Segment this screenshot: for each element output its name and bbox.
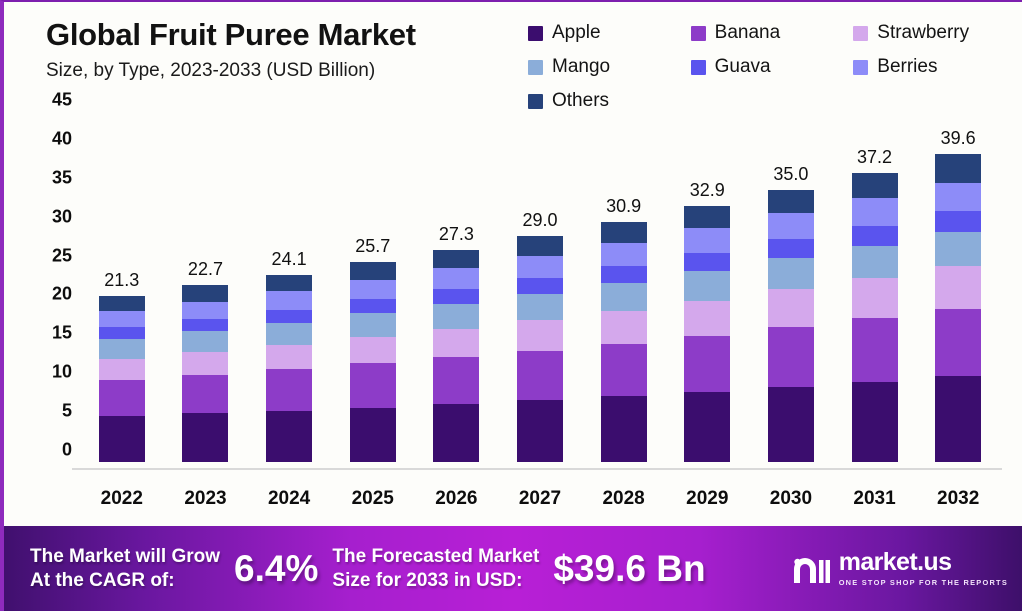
bar-segment-apple[interactable] [852,382,898,462]
bar-total-label: 22.7 [188,259,223,280]
bar-segment-mango[interactable] [684,271,730,301]
legend-item-apple[interactable]: Apple [528,16,691,50]
bar-segment-guava[interactable] [601,266,647,283]
bar-segment-apple[interactable] [684,392,730,462]
bar-segment-others[interactable] [266,275,312,291]
x-axis: 2022202320242025202620272028202920302031… [28,480,1010,514]
bar-segment-banana[interactable] [350,363,396,407]
plot-area: 051015202530354045 21.322.724.125.727.32… [28,110,1010,470]
bar-stack-2028[interactable] [601,222,647,462]
bar-total-label: 21.3 [104,270,139,291]
bar-segment-others[interactable] [935,154,981,183]
chart-subtitle: Size, by Type, 2023-2033 (USD Billion) [46,60,516,82]
bar-segment-mango[interactable] [266,323,312,345]
bar-segment-berries[interactable] [852,198,898,225]
legend-swatch-icon [528,60,543,75]
page-title: Global Fruit Puree Market [46,18,516,51]
bar-segment-berries[interactable] [182,302,228,319]
x-axis-tick: 2025 [352,488,394,510]
bar-segment-berries[interactable] [517,256,563,278]
bar-segment-apple[interactable] [768,387,814,462]
legend-label: Strawberry [877,22,969,44]
bar-segment-others[interactable] [350,262,396,280]
bar-stack-2030[interactable] [768,190,814,462]
bar-segment-berries[interactable] [601,243,647,266]
bar-segment-banana[interactable] [266,369,312,410]
bar-segment-apple[interactable] [433,404,479,462]
x-axis-tick: 2028 [602,488,644,510]
summary-banner: The Market will Grow At the CAGR of: 6.4… [4,526,1022,611]
y-axis-tick: 15 [52,323,72,344]
bar-segment-mango[interactable] [517,294,563,320]
logo-text: market.us ONE STOP SHOP FOR THE REPORTS [839,550,1008,587]
bar-segment-berries[interactable] [433,268,479,289]
x-axis-tick: 2022 [101,488,143,510]
cagr-label-line1: The Market will Grow [30,545,220,568]
legend-item-berries[interactable]: Berries [853,50,1016,84]
legend-label: Mango [552,56,610,78]
y-axis-tick: 30 [52,206,72,227]
bars-container: 21.322.724.125.727.329.030.932.935.037.2… [80,110,1010,470]
bar-segment-banana[interactable] [99,380,145,416]
bar-segment-others[interactable] [601,222,647,243]
bar-segment-others[interactable] [684,206,730,228]
x-axis-tick: 2029 [686,488,728,510]
bar-total-label: 35.0 [773,164,808,185]
bar-segment-others[interactable] [182,285,228,301]
bar-segment-berries[interactable] [99,311,145,327]
legend-item-strawberry[interactable]: Strawberry [853,16,1016,50]
bar-segment-strawberry[interactable] [768,289,814,326]
chart-legend: AppleBananaStrawberryMangoGuavaBerriesOt… [528,16,1016,118]
bar-segment-banana[interactable] [433,357,479,404]
bar-stack-2029[interactable] [684,206,730,462]
bar-segment-berries[interactable] [684,228,730,253]
legend-label: Apple [552,22,601,44]
forecast-value: $39.6 Bn [553,548,705,590]
legend-label: Guava [715,56,771,78]
y-axis-tick: 40 [52,128,72,149]
legend-label: Banana [715,22,781,44]
bar-total-label: 24.1 [272,249,307,270]
chart-header: Global Fruit Puree Market Size, by Type,… [46,18,516,82]
bar-segment-guava[interactable] [266,310,312,323]
bar-segment-guava[interactable] [433,289,479,304]
bar-segment-strawberry[interactable] [517,320,563,350]
bar-total-label: 30.9 [606,196,641,217]
bar-segment-guava[interactable] [517,278,563,294]
bar-segment-banana[interactable] [182,375,228,413]
bar-total-label: 39.6 [941,128,976,149]
bar-segment-guava[interactable] [350,299,396,313]
bar-segment-mango[interactable] [601,283,647,311]
bar-segment-strawberry[interactable] [266,345,312,370]
infographic-root: Global Fruit Puree Market Size, by Type,… [0,0,1022,611]
forecast-label-line1: The Forecasted Market [332,545,539,568]
bar-segment-apple[interactable] [350,408,396,462]
x-axis-tick: 2030 [770,488,812,510]
y-axis-tick: 35 [52,167,72,188]
legend-swatch-icon [528,94,543,109]
bar-stack-2032[interactable] [935,154,981,462]
bar-total-label: 29.0 [522,210,557,231]
bar-segment-apple[interactable] [601,396,647,462]
bar-segment-strawberry[interactable] [182,352,228,375]
x-axis-tick: 2026 [435,488,477,510]
bar-segment-strawberry[interactable] [852,278,898,318]
y-axis-tick: 0 [62,440,72,461]
bar-segment-mango[interactable] [852,246,898,279]
x-axis-tick: 2031 [853,488,895,510]
market-us-logo: market.us ONE STOP SHOP FOR THE REPORTS [791,550,1008,587]
cagr-label: The Market will Grow At the CAGR of: [30,545,220,592]
legend-label: Berries [877,56,937,78]
bar-segment-apple[interactable] [99,416,145,462]
bar-segment-banana[interactable] [601,344,647,396]
bar-segment-apple[interactable] [182,413,228,462]
bar-segment-mango[interactable] [935,232,981,266]
bar-segment-berries[interactable] [935,183,981,211]
bar-total-label: 25.7 [355,236,390,257]
bar-segment-banana[interactable] [935,309,981,377]
bar-segment-guava[interactable] [768,239,814,258]
y-axis: 051015202530354045 [28,110,72,470]
bar-segment-banana[interactable] [684,336,730,392]
logo-tagline: ONE STOP SHOP FOR THE REPORTS [839,578,1008,587]
legend-swatch-icon [691,26,706,41]
bar-segment-apple[interactable] [935,376,981,462]
bar-segment-guava[interactable] [935,211,981,232]
bar-segment-guava[interactable] [684,253,730,272]
bar-segment-banana[interactable] [517,351,563,400]
bar-segment-strawberry[interactable] [684,301,730,336]
logo-name: market.us [839,550,1008,575]
bar-segment-berries[interactable] [266,291,312,310]
bar-segment-guava[interactable] [99,327,145,339]
bar-segment-banana[interactable] [768,327,814,387]
cagr-label-line2: At the CAGR of: [30,569,220,592]
x-axis-tick: 2032 [937,488,979,510]
legend-item-guava[interactable]: Guava [691,50,854,84]
bar-segment-mango[interactable] [99,339,145,359]
bar-segment-apple[interactable] [517,400,563,462]
y-axis-tick: 5 [62,401,72,422]
bar-segment-strawberry[interactable] [350,337,396,363]
legend-item-mango[interactable]: Mango [528,50,691,84]
bar-segment-mango[interactable] [433,304,479,329]
bar-segment-mango[interactable] [350,313,396,336]
logo-mark-icon [791,552,831,586]
bar-total-label: 32.9 [690,180,725,201]
bar-segment-others[interactable] [768,190,814,213]
y-axis-tick: 45 [52,90,72,111]
bar-segment-berries[interactable] [350,280,396,299]
legend-swatch-icon [853,26,868,41]
bar-segment-banana[interactable] [852,318,898,382]
bar-total-label: 37.2 [857,147,892,168]
bar-segment-mango[interactable] [768,258,814,289]
bar-segment-guava[interactable] [182,319,228,331]
forecast-label: The Forecasted Market Size for 2033 in U… [332,545,539,592]
bar-segment-others[interactable] [99,296,145,311]
x-axis-tick: 2024 [268,488,310,510]
bar-segment-others[interactable] [852,173,898,199]
bar-segment-berries[interactable] [768,213,814,239]
forecast-label-line2: Size for 2033 in USD: [332,569,539,592]
y-axis-tick: 20 [52,284,72,305]
bar-stack-2031[interactable] [852,173,898,462]
legend-swatch-icon [691,60,706,75]
bar-segment-strawberry[interactable] [99,359,145,380]
bar-stack-2023[interactable] [182,285,228,462]
legend-label: Others [552,90,609,112]
cagr-value: 6.4% [234,548,318,590]
bar-segment-strawberry[interactable] [935,266,981,309]
y-axis-tick: 10 [52,362,72,383]
bar-segment-strawberry[interactable] [601,311,647,344]
bar-segment-strawberry[interactable] [433,329,479,357]
bar-segment-others[interactable] [517,236,563,255]
legend-item-banana[interactable]: Banana [691,16,854,50]
bar-stack-2027[interactable] [517,236,563,462]
bar-total-label: 27.3 [439,224,474,245]
bar-stack-2025[interactable] [350,262,396,462]
y-axis-tick: 25 [52,245,72,266]
bar-stack-2022[interactable] [99,296,145,462]
bar-segment-others[interactable] [433,250,479,269]
x-axis-tick: 2027 [519,488,561,510]
bar-segment-apple[interactable] [266,411,312,462]
bar-stack-2026[interactable] [433,250,479,462]
bar-stack-2024[interactable] [266,275,312,462]
legend-swatch-icon [853,60,868,75]
bar-segment-guava[interactable] [852,226,898,246]
legend-swatch-icon [528,26,543,41]
x-axis-tick: 2023 [184,488,226,510]
bar-segment-mango[interactable] [182,331,228,352]
